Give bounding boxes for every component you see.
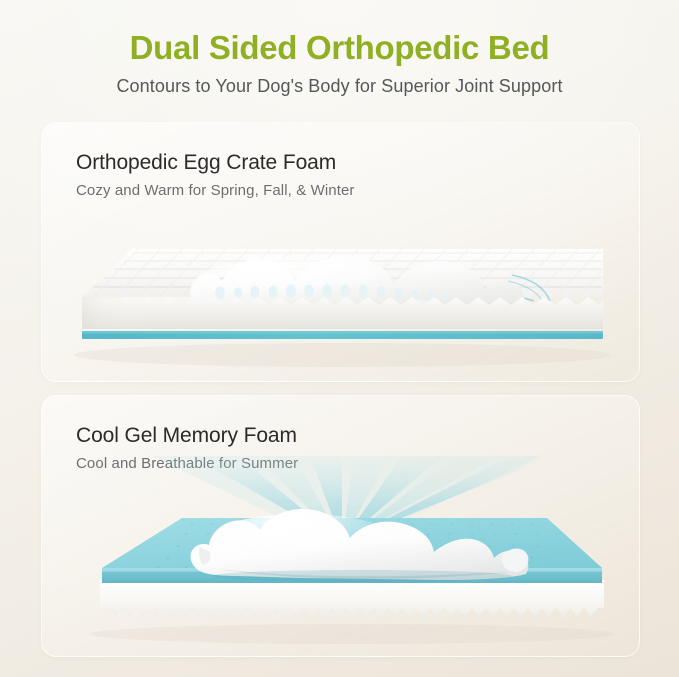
gel-foam-illustration: [42, 456, 639, 656]
page-subtitle: Contours to Your Dog's Body for Superior…: [0, 76, 679, 97]
infographic-page: Dual Sided Orthopedic Bed Contours to Yo…: [0, 0, 679, 677]
header: Dual Sided Orthopedic Bed Contours to Yo…: [0, 0, 679, 97]
dog-contact-shadow: [212, 570, 512, 582]
foam-front-face: [82, 297, 603, 329]
foam-side-shading: [82, 297, 152, 329]
card-subheading: Cozy and Warm for Spring, Fall, & Winter: [76, 182, 355, 199]
egg-crate-foam-illustration: [42, 205, 639, 381]
feature-card-egg-crate-foam: Orthopedic Egg Crate Foam Cozy and Warm …: [41, 122, 640, 382]
card-heading: Cool Gel Memory Foam: [76, 424, 297, 448]
slab-shadow: [90, 624, 614, 644]
feature-card-cool-gel-memory-foam: Cool Gel Memory Foam Cool and Breathable…: [41, 395, 640, 657]
foam-shadow: [74, 343, 610, 367]
dog-highlight: [214, 514, 390, 558]
white-foam-base: [100, 580, 604, 617]
stripe-highlight: [82, 331, 603, 334]
page-title: Dual Sided Orthopedic Bed: [0, 30, 679, 66]
card-heading: Orthopedic Egg Crate Foam: [76, 151, 336, 175]
